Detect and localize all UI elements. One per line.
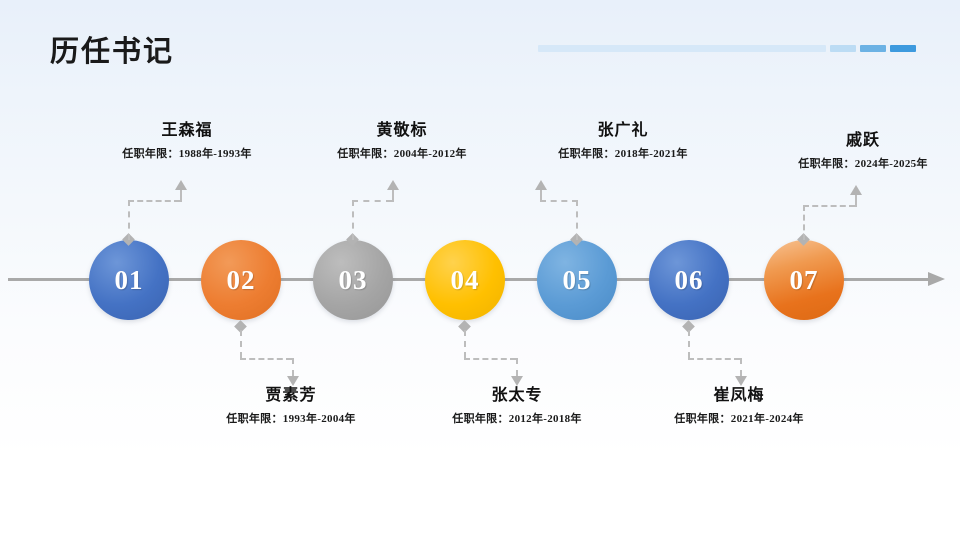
connector-segment-01-c — [180, 190, 182, 202]
decoration-bar-short-1 — [830, 45, 856, 52]
timeline-node-04[interactable]: 04 — [425, 240, 505, 320]
decoration-bar-short-2 — [860, 45, 886, 52]
connector-segment-01-a — [128, 200, 130, 240]
connector-segment-07-a — [803, 205, 805, 240]
timeline-label-01: 王森福 任职年限：1988年-1993年 — [72, 121, 302, 161]
connector-segment-06-c — [740, 358, 742, 376]
timeline-label-name: 崔凤梅 — [624, 386, 854, 406]
connector-segment-06-a — [688, 330, 690, 358]
timeline-node-number: 05 — [563, 265, 592, 296]
connector-segment-03-a — [352, 200, 354, 240]
connector-segment-02-a — [240, 330, 242, 358]
connector-segment-05-a — [576, 200, 578, 240]
connector-arrow-icon-07 — [850, 185, 862, 195]
timeline-node-number: 06 — [675, 265, 704, 296]
timeline-node-number: 03 — [339, 265, 368, 296]
timeline-label-name: 张太专 — [402, 386, 632, 406]
connector-arrow-icon-03 — [387, 180, 399, 190]
connector-arrow-icon-04 — [511, 376, 523, 386]
connector-segment-06-b — [688, 358, 740, 360]
connector-segment-05-c — [540, 190, 542, 202]
timeline-label-name: 黄敬标 — [287, 121, 517, 141]
slide-canvas: 历任书记 01 王森福 任职年限：1988年-1993年 02 贾素芳 任职年限… — [0, 0, 960, 540]
page-title: 历任书记 — [50, 28, 174, 70]
decoration-bar-long — [538, 45, 826, 52]
connector-segment-03-b — [352, 200, 392, 202]
timeline-label-name: 王森福 — [72, 121, 302, 141]
timeline-label-term: 任职年限：2004年-2012年 — [287, 147, 517, 161]
connector-segment-04-b — [464, 358, 516, 360]
timeline-node-number: 02 — [227, 265, 256, 296]
connector-segment-02-b — [240, 358, 292, 360]
timeline-label-02: 贾素芳 任职年限：1993年-2004年 — [176, 386, 406, 426]
connector-segment-03-c — [392, 190, 394, 202]
timeline-label-name: 贾素芳 — [176, 386, 406, 406]
connector-arrow-icon-05 — [535, 180, 547, 190]
connector-segment-07-c — [855, 195, 857, 207]
connector-segment-07-b — [803, 205, 855, 207]
timeline-label-07: 戚跃 任职年限：2024年-2025年 — [748, 131, 960, 171]
timeline-node-06[interactable]: 06 — [649, 240, 729, 320]
timeline-node-number: 07 — [790, 265, 819, 296]
timeline-label-term: 任职年限：1993年-2004年 — [176, 412, 406, 426]
timeline-label-term: 任职年限：2018年-2021年 — [508, 147, 738, 161]
connector-segment-01-b — [128, 200, 180, 202]
connector-arrow-icon-02 — [287, 376, 299, 386]
connector-segment-04-a — [464, 330, 466, 358]
timeline-label-term: 任职年限：2021年-2024年 — [624, 412, 854, 426]
timeline-label-name: 张广礼 — [508, 121, 738, 141]
timeline-node-number: 04 — [451, 265, 480, 296]
decoration-bar-short-3 — [890, 45, 916, 52]
timeline-node-07[interactable]: 07 — [764, 240, 844, 320]
connector-segment-05-b — [540, 200, 578, 202]
timeline-label-03: 黄敬标 任职年限：2004年-2012年 — [287, 121, 517, 161]
timeline-label-term: 任职年限：1988年-1993年 — [72, 147, 302, 161]
timeline-node-number: 01 — [115, 265, 144, 296]
timeline-node-03[interactable]: 03 — [313, 240, 393, 320]
connector-segment-02-c — [292, 358, 294, 376]
connector-segment-04-c — [516, 358, 518, 376]
timeline-label-term: 任职年限：2012年-2018年 — [402, 412, 632, 426]
timeline-node-02[interactable]: 02 — [201, 240, 281, 320]
timeline-label-term: 任职年限：2024年-2025年 — [748, 157, 960, 171]
connector-arrow-icon-06 — [735, 376, 747, 386]
timeline-label-05: 张广礼 任职年限：2018年-2021年 — [508, 121, 738, 161]
timeline-arrow-icon — [928, 272, 945, 286]
timeline-node-01[interactable]: 01 — [89, 240, 169, 320]
connector-arrow-icon-01 — [175, 180, 187, 190]
timeline-label-name: 戚跃 — [748, 131, 960, 151]
timeline-node-05[interactable]: 05 — [537, 240, 617, 320]
timeline-label-04: 张太专 任职年限：2012年-2018年 — [402, 386, 632, 426]
timeline-label-06: 崔凤梅 任职年限：2021年-2024年 — [624, 386, 854, 426]
